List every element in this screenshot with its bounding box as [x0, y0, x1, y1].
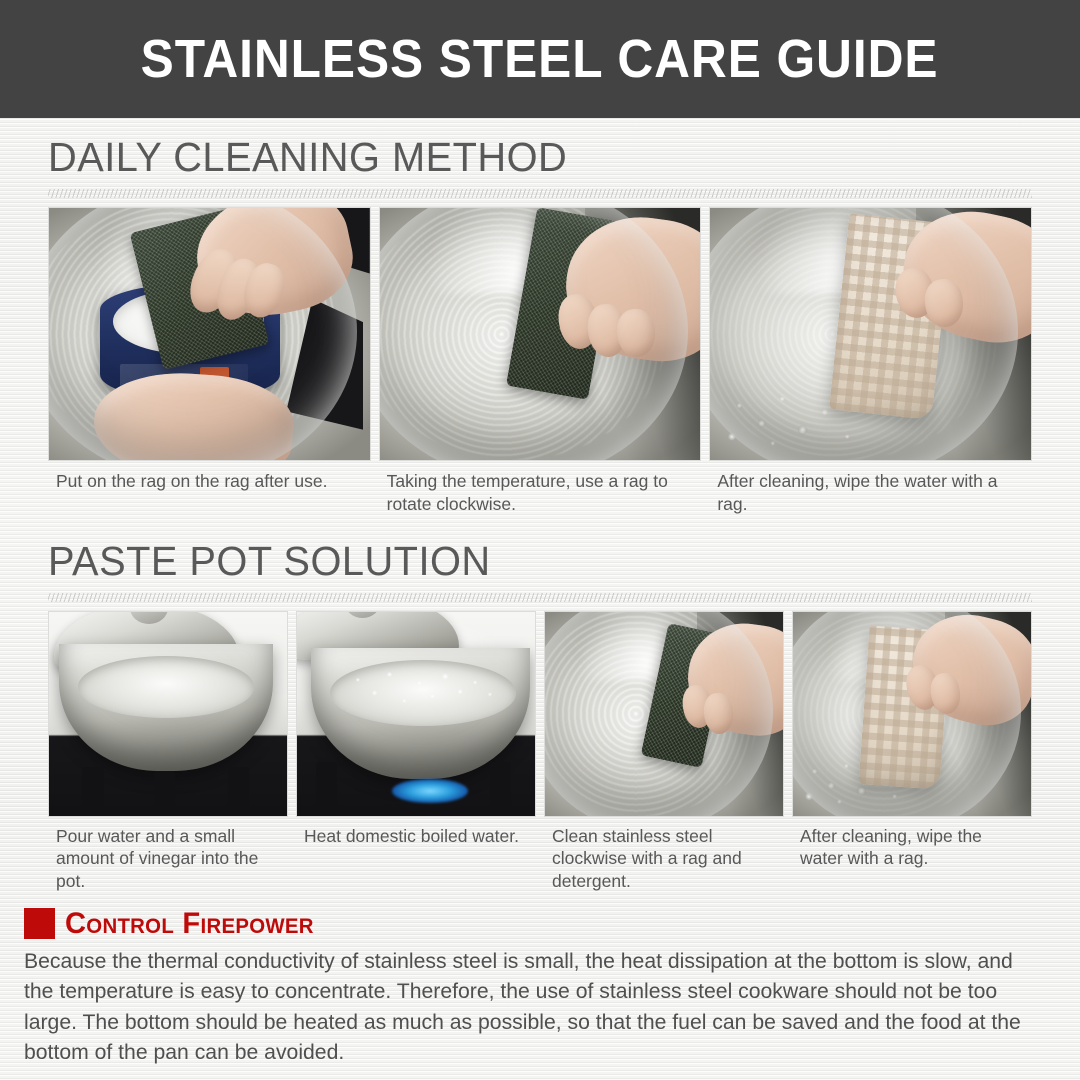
step-card-1: Put on the rag on the rag after use. [48, 207, 371, 516]
scene-towel-wipe [710, 208, 1031, 460]
step-caption-7: After cleaning, wipe the water with a ra… [792, 817, 1032, 871]
step-card-5: Heat domestic boiled water. [296, 611, 536, 893]
step-caption-5: Heat domestic boiled water. [296, 817, 536, 848]
firepower-body-text: Because the thermal conductivity of stai… [24, 946, 1041, 1068]
scene-scrub-pot [545, 612, 783, 816]
step-photo-7 [792, 611, 1032, 817]
bowl-rim [48, 207, 357, 461]
step-photo-4 [48, 611, 288, 817]
step-caption-6: Clean stainless steel clockwise with a r… [544, 817, 784, 893]
firepower-heading: Control Firepower [24, 907, 1056, 941]
scene-scrub-pot [380, 208, 701, 460]
page-title: STAINLESS STEEL CARE GUIDE [141, 28, 939, 90]
page-header: STAINLESS STEEL CARE GUIDE [0, 0, 1080, 118]
bowl-rim [379, 207, 688, 461]
step-photo-2 [379, 207, 702, 461]
step-card-4: Pour water and a small amount of vinegar… [48, 611, 288, 893]
section-heading-paste-pot: PASTE POT SOLUTION [48, 522, 1002, 593]
scene-towel-wipe [793, 612, 1031, 816]
step-caption-1: Put on the rag on the rag after use. [48, 461, 371, 493]
step-card-3: After cleaning, wipe the water with a ra… [709, 207, 1032, 516]
section-daily-cleaning: DAILY CLEANING METHOD [0, 118, 1080, 516]
step-photo-3 [709, 207, 1032, 461]
bowl-rim [792, 611, 1021, 817]
section-heading-daily-cleaning: DAILY CLEANING METHOD [48, 118, 1002, 189]
step-photo-1 [48, 207, 371, 461]
stove-grate-left [316, 762, 337, 815]
photo-grid-paste-pot: Pour water and a small amount of vinegar… [48, 611, 1032, 893]
hatch-divider [48, 593, 1032, 602]
hatch-divider [48, 189, 1032, 198]
stove-grate-center [154, 771, 175, 816]
step-photo-5 [296, 611, 536, 817]
red-square-bullet-icon [24, 908, 55, 939]
step-card-6: Clean stainless steel clockwise with a r… [544, 611, 784, 893]
step-caption-4: Pour water and a small amount of vinegar… [48, 817, 288, 893]
photo-grid-daily-cleaning: Put on the rag on the rag after use. [48, 207, 1032, 516]
bowl-rim [709, 207, 1018, 461]
boiling-bubbles [330, 660, 516, 725]
scene-wok-boiling [297, 612, 535, 816]
infographic-page: STAINLESS STEEL CARE GUIDE DAILY CLEANIN… [0, 0, 1080, 1080]
scene-wok-water [49, 612, 287, 816]
bowl-rim [544, 611, 773, 817]
scene-paste-tub [49, 208, 370, 460]
stove-grate-right [490, 762, 511, 815]
step-card-7: After cleaning, wipe the water with a ra… [792, 611, 1032, 893]
firepower-title: Control Firepower [65, 907, 314, 941]
stove-grate-left [82, 767, 103, 816]
step-photo-6 [544, 611, 784, 817]
section-paste-pot: PASTE POT SOLUTION Pou [0, 516, 1080, 893]
step-card-2: Taking the temperature, use a rag to rot… [379, 207, 702, 516]
step-caption-3: After cleaning, wipe the water with a ra… [709, 461, 1032, 516]
wok-water-surface [78, 656, 254, 717]
step-caption-2: Taking the temperature, use a rag to rot… [379, 461, 702, 516]
control-firepower-block: Control Firepower Because the thermal co… [0, 893, 1080, 1068]
stove-grate-right [228, 767, 249, 816]
